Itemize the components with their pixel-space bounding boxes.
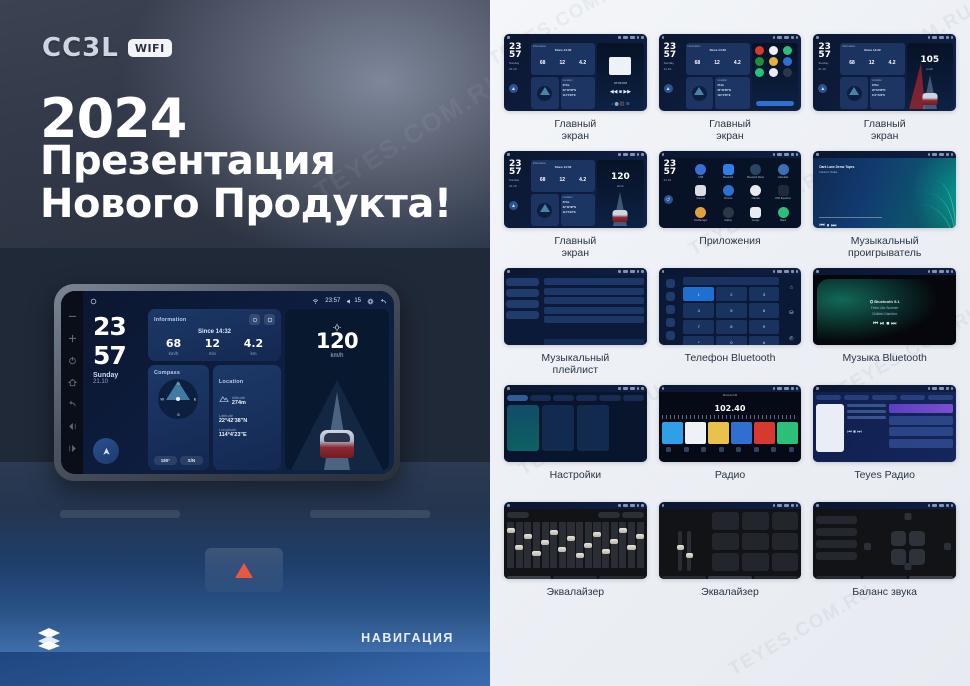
eq-slider[interactable] — [585, 522, 592, 568]
balance-left-button[interactable] — [864, 543, 871, 550]
eq-slider[interactable] — [516, 522, 523, 568]
eq-mode-button[interactable] — [599, 576, 643, 579]
altitude-value: 274m — [232, 400, 246, 406]
playlist-track-row[interactable] — [544, 307, 644, 314]
app-icon-camera[interactable]: Camera — [689, 184, 713, 203]
settings-tab[interactable] — [623, 395, 644, 401]
mini-volume — [630, 504, 635, 507]
car-dashboard-photo: 23:57 15 23 — [0, 248, 490, 648]
mini-time — [932, 387, 937, 390]
thumb-home-screen-media[interactable]: 23 57 Sunday 21.10 ▲ Information Since 1… — [504, 34, 647, 111]
mini-time — [623, 504, 628, 507]
eq-slider[interactable] — [559, 522, 566, 568]
settings-icon[interactable] — [264, 314, 275, 325]
settings-tab[interactable] — [507, 395, 528, 401]
mini-navigation-button[interactable]: ▲ — [818, 84, 827, 93]
account-tile[interactable] — [542, 405, 574, 451]
mini-information-card[interactable]: Information Since 14:32 68124.2 — [531, 160, 595, 192]
seat-position — [891, 531, 907, 547]
mini-compass-card[interactable] — [686, 77, 714, 109]
mini-app-shortcuts[interactable] — [752, 43, 798, 109]
back-arrow-icon[interactable] — [68, 400, 77, 409]
eq-preset-1[interactable] — [598, 512, 620, 518]
eq-slider[interactable] — [550, 522, 557, 568]
app-label: Canvas — [752, 197, 760, 200]
dial-key-9[interactable]: 9 — [749, 320, 780, 334]
thumb-equalizer-2[interactable] — [659, 502, 802, 579]
mini-back-button[interactable]: ↺ — [664, 195, 673, 204]
next-track-icon[interactable] — [68, 444, 77, 453]
app-icon-dsp-equalizer[interactable]: DSP Equalizer — [771, 184, 795, 203]
hazard-button[interactable] — [205, 548, 283, 592]
thumb-music-playlist[interactable] — [504, 268, 647, 345]
thumb-music-player[interactable]: Dark Lane Demo Tapes Future ft. Drake ⏮ … — [813, 151, 956, 228]
app-icon-calculator[interactable]: Calculator — [771, 162, 795, 181]
settings-tab[interactable] — [553, 395, 574, 401]
mini-media-panel[interactable]: 07:50 PM ◀◀ ■ ▶▶ ♪ ⬤ ⬛ ☰ — [597, 43, 643, 109]
navigation-label: НАВИГАЦИЯ — [361, 631, 454, 645]
eq-preset-pad[interactable] — [712, 512, 739, 530]
mini-speed-unit: km/h — [597, 184, 643, 188]
mini-volume — [784, 270, 789, 273]
eq-mode-button[interactable] — [553, 576, 597, 579]
mini-information-card[interactable]: Information Since 14:32 68124.2 — [686, 43, 750, 75]
balance-front-button[interactable] — [904, 513, 911, 520]
mini-back-icon — [951, 36, 954, 39]
thumb-bluetooth-phone[interactable]: 123456789*0# ☆⛁✆ — [659, 268, 802, 345]
power-icon[interactable] — [68, 356, 77, 365]
shortcut-icon[interactable] — [769, 57, 778, 66]
station-preset[interactable] — [708, 422, 729, 444]
eq-preset-pad[interactable] — [742, 512, 769, 530]
phone-tab[interactable] — [666, 331, 675, 340]
location-card[interactable]: Location Altitude 274m — [213, 365, 281, 470]
mini-status-bar — [504, 502, 647, 509]
teyes-tab[interactable] — [816, 395, 841, 400]
navigation-arrow-icon — [101, 446, 112, 457]
clock-widget[interactable]: 23 57 Sunday 21.10 — [88, 309, 144, 470]
eq-preset-pad[interactable] — [712, 553, 739, 571]
radio-tool-icon[interactable] — [719, 447, 724, 452]
phone-tab[interactable] — [666, 279, 675, 288]
equalizer-screen[interactable] — [504, 509, 647, 579]
thumb-home-screen-warning[interactable]: 23 57 Sunday 21.10 ▲ Information Since 1… — [813, 34, 956, 111]
dial-key-7[interactable]: 7 — [683, 320, 714, 334]
playlist-category[interactable] — [506, 311, 539, 319]
radio-tool-icon[interactable] — [684, 447, 689, 452]
mini-home-icon — [816, 504, 819, 507]
compass-heading-button[interactable]: 180° — [154, 456, 177, 465]
eq-preset-pad[interactable] — [772, 512, 799, 530]
eq-slider[interactable] — [602, 522, 609, 568]
mini-gear-icon — [946, 270, 949, 273]
shortcut-icon[interactable] — [755, 46, 764, 55]
mini-gear-icon — [946, 504, 949, 507]
mini-home-icon — [816, 387, 819, 390]
app-icon-gallery[interactable]: Gallery — [716, 205, 740, 224]
information-stats: 68 km/h 12 min 4.2 — [154, 338, 275, 356]
teyes-tab[interactable] — [900, 395, 925, 400]
app-icon-canvas[interactable]: Canvas — [743, 184, 767, 203]
settings-screen[interactable] — [504, 392, 647, 462]
playlist-category[interactable] — [506, 278, 539, 286]
teyes-station-item[interactable] — [889, 416, 953, 425]
mini-volume — [630, 153, 635, 156]
thumb-sound-balance[interactable] — [813, 502, 956, 579]
eq-preset-pad[interactable] — [772, 553, 799, 571]
balance-right-button[interactable] — [944, 543, 951, 550]
eq-preset-pad[interactable] — [742, 553, 769, 571]
eq-mode-button[interactable] — [754, 576, 798, 579]
player-controls[interactable]: ⏮ ⏸ ⏭ — [819, 223, 836, 228]
mini-status-bar — [813, 34, 956, 41]
dial-key-6[interactable]: 6 — [749, 303, 780, 317]
compass-west: W — [160, 397, 164, 402]
mini-gear-icon — [637, 387, 640, 390]
mini-location-card[interactable]: Location 274m 22°42'38"N 114°4'23"E — [870, 77, 905, 109]
mini-compass-card[interactable] — [840, 77, 868, 109]
eq-slider[interactable] — [567, 522, 574, 568]
mini-longitude: 114°4'23"E — [717, 94, 748, 97]
app-icon-chrome[interactable]: Chrome — [716, 184, 740, 203]
progress-bar[interactable] — [819, 217, 882, 218]
screenshot-cell: 23 57 Sunday 21.10 ▲ Information Since 1… — [504, 34, 647, 143]
mini-clock-day: Sunday — [509, 178, 529, 182]
mini-gear-icon — [637, 270, 640, 273]
speed-value: 120 — [285, 329, 389, 353]
radio-tool-icon[interactable] — [666, 447, 671, 452]
favorite-icon: ☆ — [789, 285, 793, 291]
station-preset[interactable] — [685, 422, 706, 444]
hazard-triangle-icon — [235, 563, 253, 578]
physical-button-column[interactable] — [61, 291, 83, 474]
mini-status-bar — [504, 385, 647, 392]
radio-tool-icon[interactable] — [771, 447, 776, 452]
screenshot-caption: Радио — [715, 469, 745, 494]
thumb-bluetooth-music[interactable]: ⌬ Bluetooth 5.1 Feels Like Summer Childi… — [813, 268, 956, 345]
mini-volume — [630, 270, 635, 273]
app-icon-grid[interactable]: USB Bluetooth Bluetooth Music Calculator… — [686, 160, 799, 226]
eq-mode-button[interactable] — [708, 576, 752, 579]
mini-stat-value: 12 — [560, 60, 566, 66]
refresh-icon[interactable] — [249, 314, 260, 325]
balance-mode-button[interactable] — [863, 576, 907, 579]
mini-player-bar[interactable] — [544, 339, 644, 345]
thumb-teyes-radio[interactable]: ⏮ ⏹ ⏭ — [813, 385, 956, 462]
balance-preset-row[interactable] — [816, 528, 857, 536]
shortcut-icon[interactable] — [783, 46, 792, 55]
phone-actions[interactable]: ☆⛁✆ — [781, 275, 801, 345]
phone-tab[interactable] — [666, 292, 675, 301]
eq-preset-pad[interactable] — [772, 533, 799, 551]
app-icon-usb[interactable]: USB — [689, 162, 713, 181]
information-since: Since 14:32 — [154, 329, 275, 335]
navigation-button[interactable] — [93, 438, 119, 464]
screenshot-cell: 23 57 Sunday 21.10 ▲ Information Since 1… — [659, 34, 802, 143]
eq-slider[interactable] — [524, 522, 531, 568]
app-label: Bluetooth — [723, 176, 733, 179]
station-preset[interactable] — [777, 422, 798, 444]
eq-slider[interactable] — [576, 522, 583, 568]
compass-card[interactable]: Compass N E S W — [148, 365, 209, 470]
screenshot-caption: Эквалайзер — [701, 586, 759, 611]
mini-navigation-button[interactable]: ▲ — [509, 84, 518, 93]
screenshot-cell: 2357 21.10↺ USB Bluetooth Bluetooth Musi… — [659, 151, 802, 260]
teyes-tab[interactable] — [872, 395, 897, 400]
information-card[interactable]: Information Since 14:32 — [148, 309, 281, 361]
mini-clock-widget: 23 57 Sunday 21.10 ▲ — [507, 160, 529, 226]
dial-key-3[interactable]: 3 — [749, 287, 780, 301]
playlist-track-row[interactable] — [544, 288, 644, 295]
balance-mode-button[interactable] — [816, 576, 860, 579]
track-artist: Future ft. Drake — [819, 171, 837, 174]
mini-navigation-button[interactable]: ▲ — [664, 84, 673, 93]
stat-item: 4.2 km — [244, 338, 264, 356]
bt-controls[interactable]: ⏮ ⏯ ⏹ ⏭ — [870, 321, 900, 328]
eq-slider[interactable] — [593, 522, 600, 568]
speed-widget[interactable]: 120 km/h — [285, 309, 389, 470]
playlist-track-row[interactable] — [544, 297, 644, 304]
eq-slider[interactable] — [507, 522, 514, 568]
bt-track: Feels Like Summer — [870, 306, 900, 310]
app-label: Gallery — [724, 219, 732, 222]
mini-home-icon — [662, 270, 665, 273]
car-3d-model — [320, 430, 354, 458]
mini-car-model — [613, 210, 628, 222]
compass-south: S — [177, 412, 180, 417]
call-icon: ✆ — [789, 336, 793, 342]
app-label: FileManager — [694, 219, 707, 222]
playlist-category[interactable] — [506, 300, 539, 308]
mini-home-icon — [507, 153, 510, 156]
eq-slider[interactable] — [628, 522, 635, 568]
dial-key-#[interactable]: # — [749, 336, 780, 345]
mini-gear-icon — [791, 270, 794, 273]
eq-bass-slider[interactable] — [678, 531, 682, 571]
eq-treble-slider[interactable] — [687, 531, 691, 571]
mini-volume — [939, 153, 944, 156]
volume-down-icon[interactable] — [68, 312, 77, 321]
eq-preset-pad[interactable] — [742, 533, 769, 551]
balance-preset-row[interactable] — [816, 552, 857, 560]
bluetooth-music-screen[interactable]: ⌬ Bluetooth 5.1 Feels Like Summer Childi… — [813, 275, 956, 345]
dial-key-5[interactable]: 5 — [716, 303, 747, 317]
eq-slider[interactable] — [637, 522, 644, 568]
eq-mode-button[interactable] — [507, 576, 551, 579]
teyes-station-item[interactable] — [889, 404, 953, 413]
mini-back-icon — [951, 270, 954, 273]
settings-tab[interactable] — [530, 395, 551, 401]
mini-status-bar — [813, 151, 956, 158]
app-icon-bluetooth[interactable]: Bluetooth — [716, 162, 740, 181]
eq-preset-2[interactable] — [622, 512, 644, 518]
mini-compass-dial — [692, 86, 707, 101]
dial-key-4[interactable]: 4 — [683, 303, 714, 317]
dial-key-1[interactable]: 1 — [683, 287, 714, 301]
mini-clock-minutes: 57 — [509, 51, 529, 59]
eq-slider[interactable] — [542, 522, 549, 568]
balance-preset-row[interactable] — [816, 540, 857, 548]
mini-clock-widget: 23 57 Sunday 21.10 ▲ — [816, 43, 838, 109]
mini-latitude: 22°42'38"N — [563, 206, 594, 209]
mini-status-bar — [504, 151, 647, 158]
status-bar: 23:57 15 — [88, 295, 389, 307]
teyes-station-item[interactable] — [889, 439, 953, 448]
shortcut-icon[interactable] — [769, 46, 778, 55]
hero-headline-line2: Нового Продукта! — [40, 184, 452, 226]
mini-status-bar — [504, 268, 647, 275]
mini-latitude: 22°42'38"N — [717, 89, 748, 92]
thumb-settings[interactable] — [504, 385, 647, 462]
thumb-applications[interactable]: 2357 21.10↺ USB Bluetooth Bluetooth Musi… — [659, 151, 802, 228]
mini-wifi-icon — [773, 504, 776, 507]
settings-tab[interactable] — [599, 395, 620, 401]
teyes-radio-screen[interactable]: ⏮ ⏹ ⏭ — [813, 392, 956, 462]
media-time: 07:50 PM — [597, 81, 643, 85]
teyes-tab[interactable] — [928, 395, 953, 400]
teyes-controls[interactable]: ⏮ ⏹ ⏭ — [847, 429, 886, 435]
mini-wifi-icon — [928, 153, 931, 156]
playlist-track-row[interactable] — [544, 278, 644, 285]
head-unit-screen[interactable]: 23:57 15 23 — [83, 291, 394, 474]
eq-preset-pad[interactable] — [712, 533, 739, 551]
dial-key-8[interactable]: 8 — [716, 320, 747, 334]
mini-speed-panel[interactable]: 120 km/h — [597, 160, 643, 226]
phone-tab[interactable] — [666, 305, 675, 314]
empty-tile — [612, 405, 644, 451]
station-preset[interactable] — [731, 422, 752, 444]
wifi-tile[interactable] — [507, 405, 539, 451]
teyes-station-item[interactable] — [889, 427, 953, 436]
mini-speed-value: 105 — [907, 55, 953, 65]
settings-tab[interactable] — [576, 395, 597, 401]
thumb-radio[interactable]: Moscow FM 102.40 — [659, 385, 802, 462]
app-icon-google[interactable]: Google — [743, 205, 767, 224]
compass-needle — [176, 397, 180, 401]
app-icon-bluetooth-music[interactable]: Bluetooth Music — [743, 162, 767, 181]
eq-slider[interactable] — [619, 522, 626, 568]
radio-tool-icon[interactable] — [736, 447, 741, 452]
dial-key-*[interactable]: * — [683, 336, 714, 345]
radio-tool-icon[interactable] — [789, 447, 794, 452]
dial-key-2[interactable]: 2 — [716, 287, 747, 301]
station-preset[interactable] — [754, 422, 775, 444]
equalizer-2-screen[interactable] — [659, 509, 802, 579]
thumb-home-screen-speed[interactable]: 23 57 Sunday 21.10 ▲ Information Since 1… — [504, 151, 647, 228]
mini-compass-card[interactable] — [531, 194, 559, 226]
mini-compass-dial — [537, 86, 552, 101]
balance-rear-button[interactable] — [904, 563, 911, 570]
contacts-icon: ⛁ — [789, 310, 793, 316]
music-player-screen[interactable]: Dark Lane Demo Tapes Future ft. Drake ⏮ … — [813, 158, 956, 228]
mini-stat-value: 12 — [714, 60, 720, 66]
screenshots-panel: TEYES.COM.RU TEYES.COM.RU TEYES.COM.RU T… — [490, 0, 970, 686]
mini-compass-card[interactable] — [531, 77, 559, 109]
mini-wifi-icon — [928, 504, 931, 507]
back-arrow-icon — [380, 298, 387, 305]
eq-mode-button[interactable] — [662, 576, 706, 579]
mini-information-card[interactable]: Information Since 14:32 68124.2 — [531, 43, 595, 75]
hero-panel: TEYES.COM.RU TEYES.COM.RU TEYES.COM.RU C… — [0, 0, 490, 686]
frequency-scale[interactable] — [662, 415, 799, 419]
balance-mode-button[interactable] — [909, 576, 953, 579]
teyes-tab[interactable] — [844, 395, 869, 400]
app-icon-filemanager[interactable]: FileManager — [689, 205, 713, 224]
radio-tool-icon[interactable] — [701, 447, 706, 452]
playlist-screen[interactable] — [504, 275, 647, 345]
mini-location-card[interactable]: Location 274m 22°42'38"N 114°4'23"E — [561, 77, 596, 109]
radio-frequency: 102.40 — [662, 404, 799, 413]
mini-stat-value: 68 — [540, 177, 546, 183]
mini-navigation-button[interactable]: ▲ — [509, 201, 518, 210]
dial-key-0[interactable]: 0 — [716, 336, 747, 345]
mini-stat-value: 4.2 — [889, 60, 896, 66]
status-volume: 15 — [354, 298, 361, 304]
shortcut-icon[interactable] — [755, 68, 764, 77]
mini-clock-day: Sunday — [818, 61, 838, 65]
mini-gear-icon — [637, 36, 640, 39]
eq-slider[interactable] — [611, 522, 618, 568]
radio-tool-icon[interactable] — [754, 447, 759, 452]
phone-tab[interactable] — [666, 318, 675, 327]
previous-track-icon[interactable] — [68, 422, 77, 431]
mini-wifi-icon — [928, 270, 931, 273]
mini-gear-icon — [791, 504, 794, 507]
compass-axis-button[interactable]: S/N — [180, 456, 203, 465]
mini-longitude: 114°4'23"E — [563, 94, 594, 97]
mini-location-card[interactable]: Location 274m 22°42'38"N 114°4'23"E — [715, 77, 750, 109]
thumb-home-screen-apps[interactable]: 23 57 Sunday 21.10 ▲ Information Since 1… — [659, 34, 802, 111]
sound-balance-screen[interactable] — [813, 509, 956, 579]
mini-location-card[interactable]: Location 274m 22°42'38"N 114°4'23"E — [561, 194, 596, 226]
mini-gear-icon — [637, 504, 640, 507]
playlist-track-row[interactable] — [544, 316, 644, 323]
mini-speed-panel[interactable]: 105km/h — [907, 43, 953, 109]
mini-stat-value: 68 — [695, 60, 701, 66]
shortcut-icon[interactable] — [783, 68, 792, 77]
home-icon[interactable] — [68, 378, 77, 387]
about-tile[interactable] — [577, 405, 609, 451]
shortcut-icon[interactable] — [783, 57, 792, 66]
balance-preset-row[interactable] — [816, 516, 857, 524]
mini-status-bar — [659, 268, 802, 275]
screenshot-caption: Баланс звука — [852, 586, 917, 611]
clock-day: Sunday — [88, 372, 144, 379]
mini-longitude: 114°4'23"E — [563, 211, 594, 214]
shortcut-icon[interactable] — [755, 57, 764, 66]
mini-stat-value: 12 — [560, 177, 566, 183]
mini-compass-dial — [537, 203, 552, 218]
bluetooth-phone-screen[interactable]: 123456789*0# ☆⛁✆ — [659, 275, 802, 345]
station-preset[interactable] — [662, 422, 683, 444]
playlist-category[interactable] — [506, 289, 539, 297]
mini-location-title: Location — [563, 196, 594, 199]
app-icon-maps[interactable]: Maps — [771, 205, 795, 224]
mini-time — [777, 36, 782, 39]
volume-up-icon[interactable] — [68, 334, 77, 343]
mini-back-icon — [796, 153, 799, 156]
eq-slider[interactable] — [533, 522, 540, 568]
shortcut-icon[interactable] — [769, 68, 778, 77]
media-controls[interactable]: ◀◀ ■ ▶▶ — [597, 89, 643, 95]
compass-north: N — [177, 381, 180, 386]
dock-bar — [756, 101, 794, 106]
mini-home-icon — [662, 153, 665, 156]
stat-unit: min — [205, 351, 220, 356]
thumb-equalizer[interactable] — [504, 502, 647, 579]
radio-screen[interactable]: Moscow FM 102.40 — [659, 392, 802, 462]
mini-information-card[interactable]: Information Since 14:32 68124.2 — [840, 43, 904, 75]
